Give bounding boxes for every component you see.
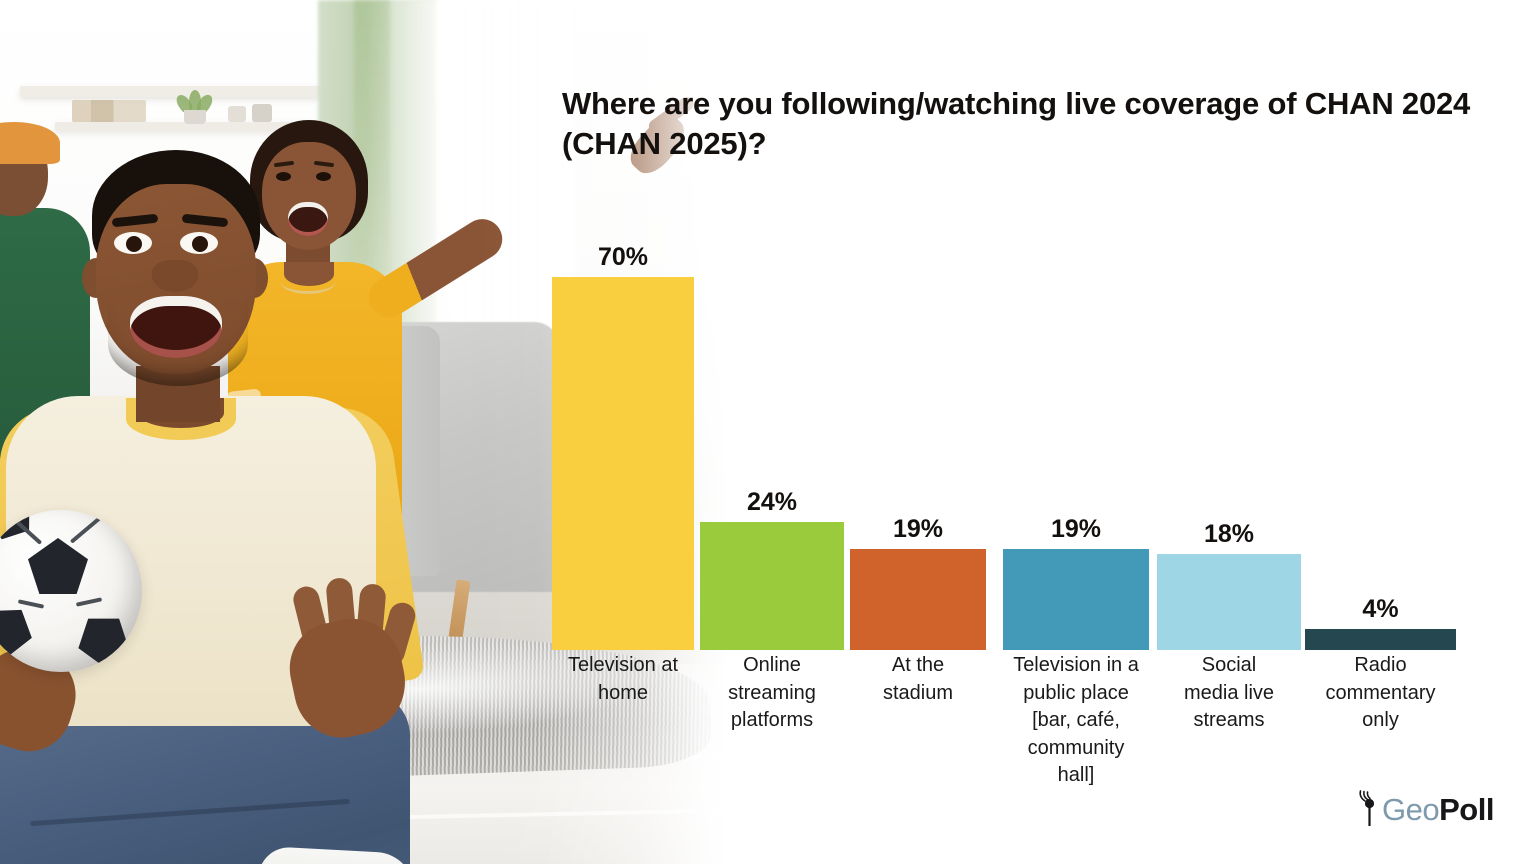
slide-canvas: Where are you following/watching live co… xyxy=(0,0,1536,864)
bar[interactable] xyxy=(1157,554,1301,650)
bar[interactable] xyxy=(850,549,986,650)
bar-slot: 19% xyxy=(850,250,986,650)
bar-slot: 70% xyxy=(552,250,694,650)
bar-chart-plot-area: 70%24%19%19%18%4% xyxy=(540,200,1480,650)
category-label: At the stadium xyxy=(850,652,986,707)
signal-antenna-icon xyxy=(1356,789,1386,829)
category-label: Television at home xyxy=(552,652,694,707)
shelf-plant xyxy=(172,84,218,124)
category-label: Online streaming platforms xyxy=(700,652,844,735)
bar-value-label: 18% xyxy=(1157,520,1301,554)
bar-slot: 18% xyxy=(1157,250,1301,650)
bar-value-label: 19% xyxy=(1003,515,1149,549)
bar-value-label: 4% xyxy=(1305,595,1456,629)
logo-poll-text: Poll xyxy=(1439,792,1494,827)
chart-title: Where are you following/watching live co… xyxy=(562,84,1492,163)
logo-geo-text: Geo xyxy=(1382,792,1439,827)
bar-value-label: 19% xyxy=(850,515,986,549)
category-label: Social media live streams xyxy=(1157,652,1301,735)
bar-series: 70%24%19%19%18%4% xyxy=(540,250,1480,650)
bar[interactable] xyxy=(1003,549,1149,650)
category-label: Television in a public place [bar, café,… xyxy=(1003,652,1149,790)
wall-shelf-upper xyxy=(20,86,320,97)
bar-slot: 24% xyxy=(700,250,844,650)
shelf-books xyxy=(72,100,146,122)
bar-value-label: 24% xyxy=(700,488,844,522)
bar[interactable] xyxy=(1305,629,1456,650)
logo-wordmark: GeoPoll xyxy=(1382,794,1494,825)
bar-slot: 4% xyxy=(1305,250,1456,650)
geopoll-logo: GeoPoll xyxy=(1356,788,1494,830)
category-label: Radio commentary only xyxy=(1305,652,1456,735)
bar[interactable] xyxy=(700,522,844,650)
bar-slot: 19% xyxy=(1003,250,1149,650)
bar[interactable] xyxy=(552,277,694,650)
category-axis-labels: Television at homeOnline streaming platf… xyxy=(540,652,1480,812)
cheering-man xyxy=(30,150,450,864)
bar-value-label: 70% xyxy=(552,243,694,277)
